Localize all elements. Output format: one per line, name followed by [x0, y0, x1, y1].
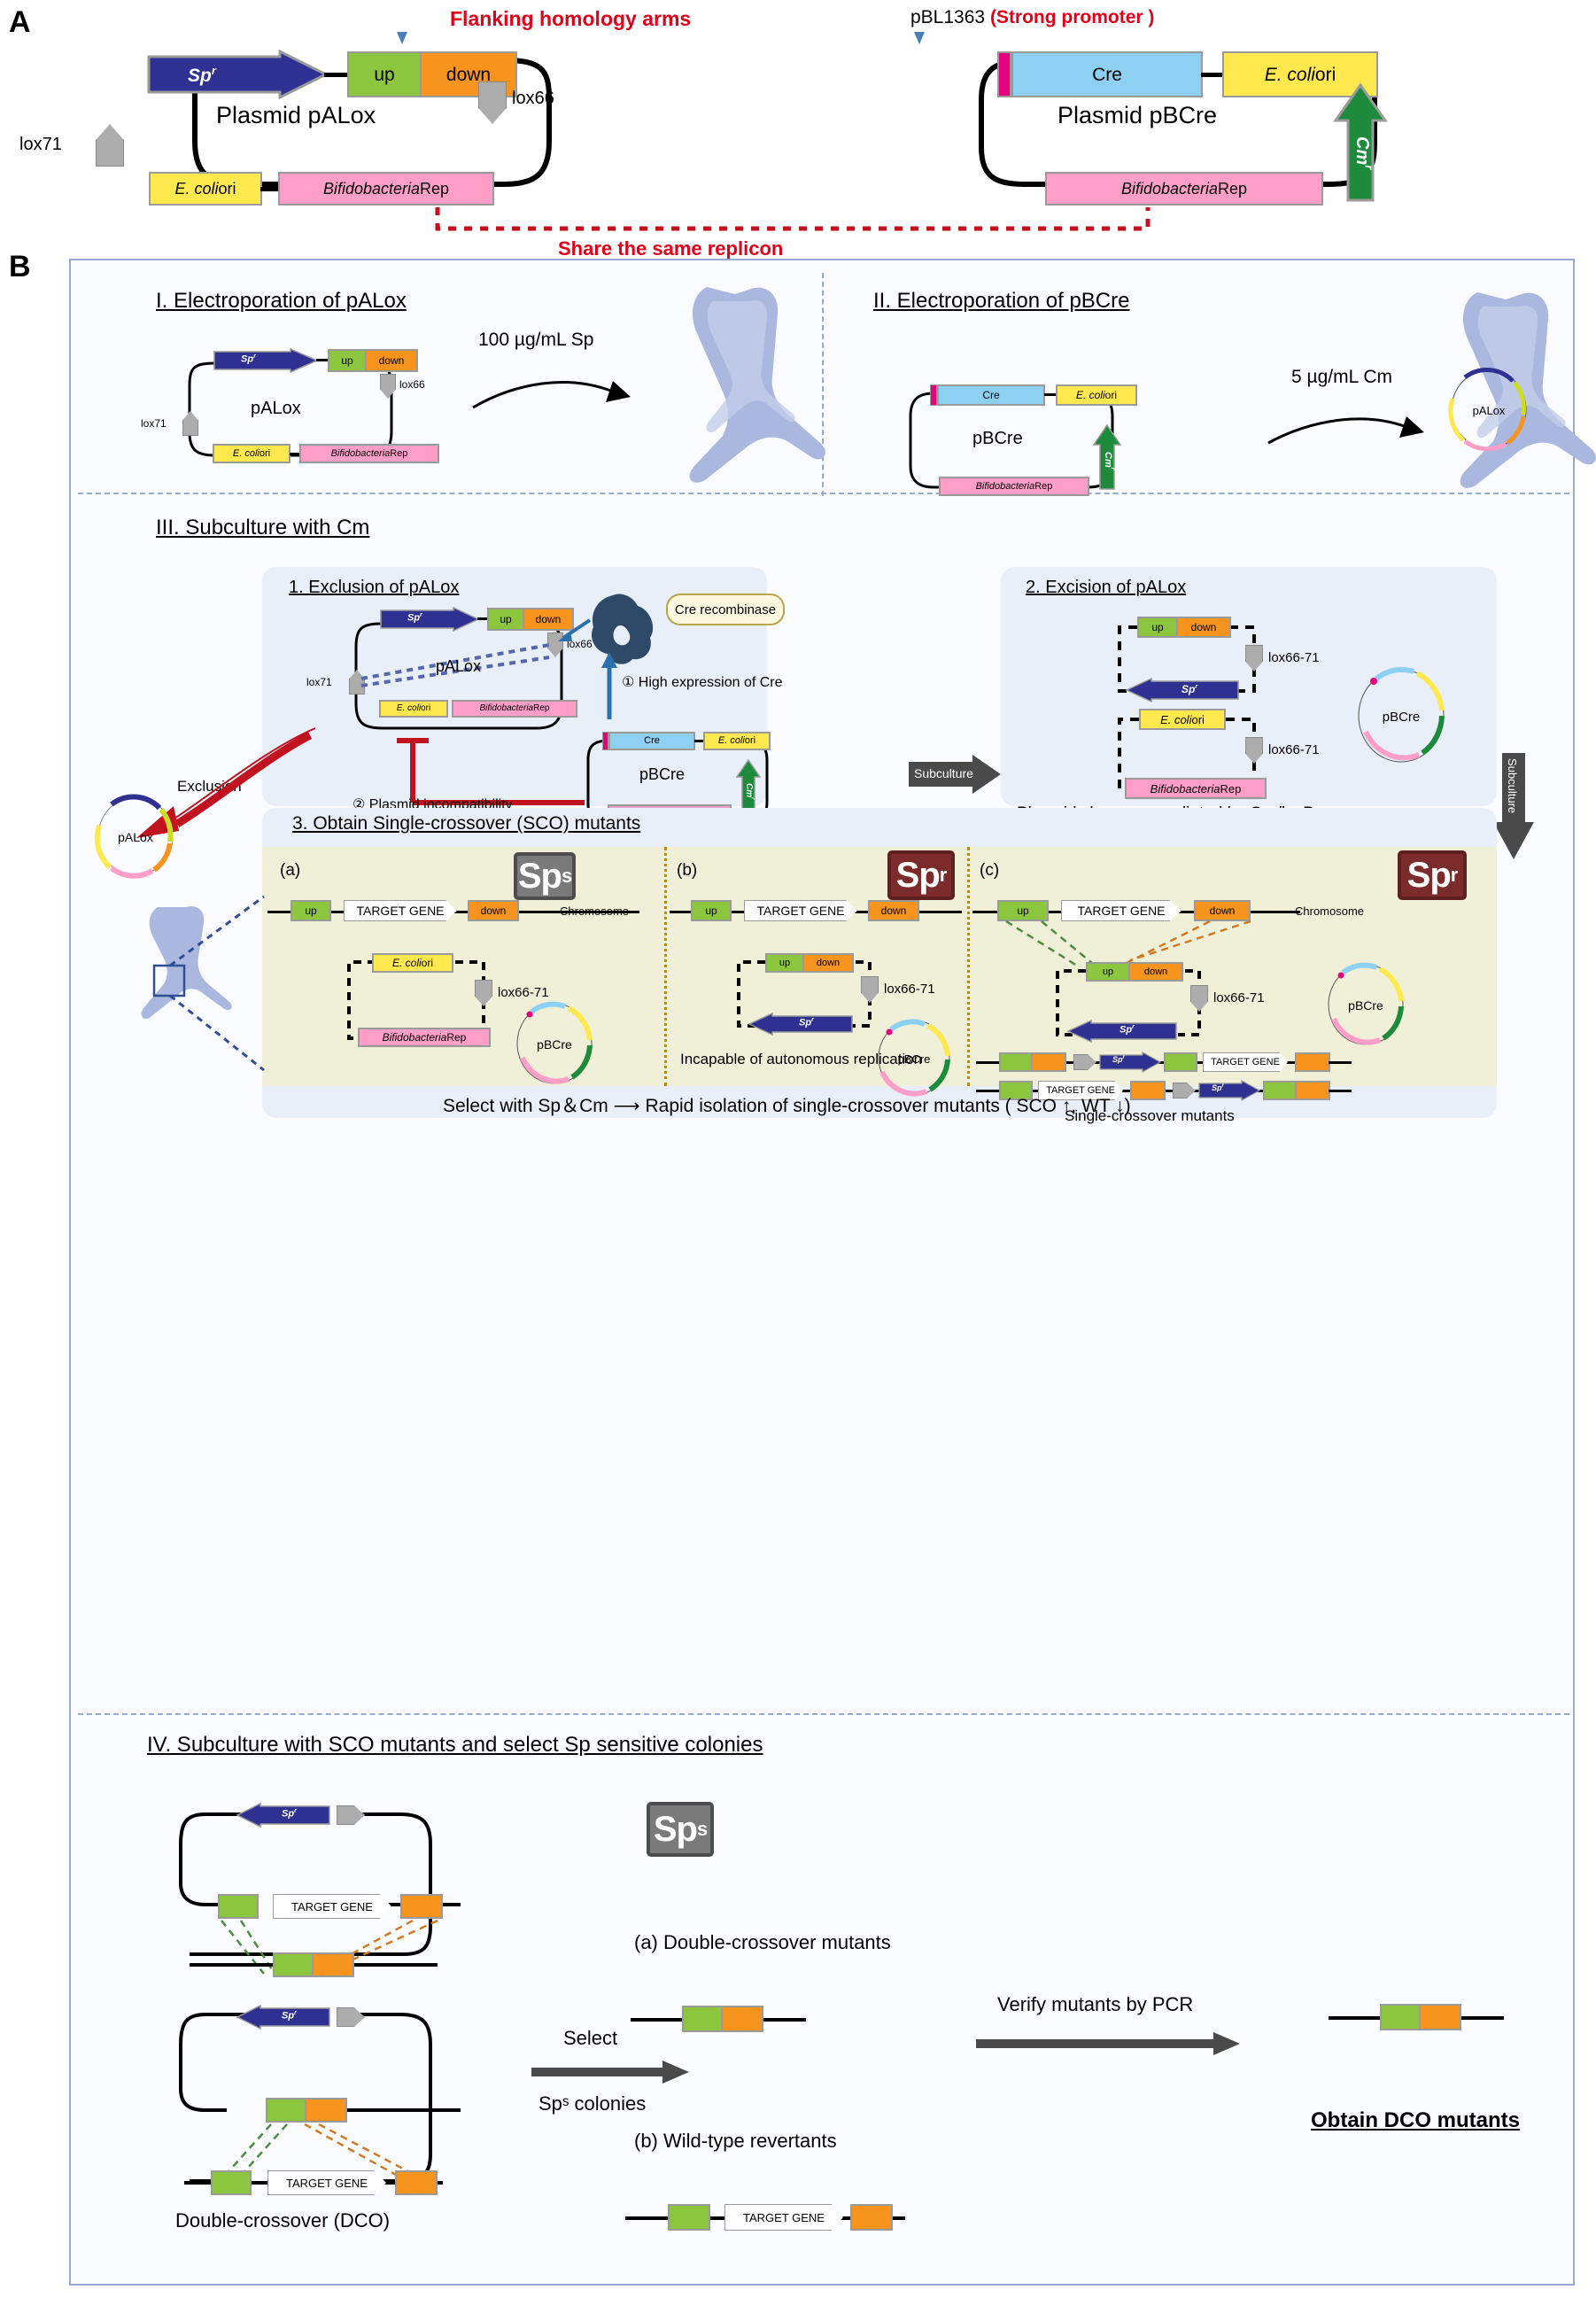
- sub1-cre-box: Cre: [608, 732, 695, 750]
- section-i-lox66-label: lox66: [399, 378, 425, 391]
- section-ii-rep-box: Bifidobacteria Rep: [939, 477, 1089, 496]
- section-iv-sco1-spr: Spr: [237, 1804, 329, 1827]
- pbcre-rep-rest: Rep: [1218, 181, 1247, 197]
- excluded-palox-plasmid: pALox: [87, 792, 184, 881]
- pbcre-rep-box: Bifidobacteria Rep: [1045, 172, 1323, 206]
- section-iv-result-b-target-gene: TARGET GENE: [724, 2204, 843, 2231]
- section-iv-badge-sps-sup: s: [697, 1818, 707, 1841]
- palox-lox66-label: lox66: [512, 89, 554, 109]
- sub3-c-lox6671-label: lox66-71: [1213, 990, 1265, 1005]
- section-iv-result-b-label: (b) Wild-type revertants: [634, 2130, 837, 2153]
- sub1-pbcre-ecoli-ori-rest: ori: [745, 736, 755, 746]
- section-iv-select-top-label: Select: [563, 2027, 617, 2050]
- sub1-rep-box: Bifidobacteria Rep: [452, 700, 577, 718]
- section-iv-result-b-up: [668, 2204, 710, 2231]
- sub1-cmr-gene: Cmr: [737, 760, 760, 815]
- pbcre-cmr-sup: r: [1363, 165, 1376, 169]
- panel-a-letter: A: [9, 5, 31, 40]
- sub3-c-pbcre-mini-plasmid: pBCre: [1318, 962, 1415, 1049]
- section-i-spr-gene: Spr: [214, 349, 317, 372]
- section-ii-connector-1: [1044, 393, 1057, 396]
- sub2-ecoli-ori-rest: ori: [1191, 714, 1204, 726]
- sub1-spr-gene: Spr: [381, 608, 478, 631]
- sub1-palox-name: pALox: [436, 657, 481, 676]
- pbcre-connector-1: [1201, 73, 1224, 77]
- sub3-a-rep-rest: Rep: [446, 1032, 466, 1043]
- sub3-footer: Select with Sp＆Cm ⟶ Rapid isolation of s…: [443, 1091, 1131, 1118]
- sub3-b-caption: Incapable of autonomous replication: [680, 1051, 922, 1068]
- pbcre-cmr-gene: Cmr: [1336, 85, 1385, 200]
- sub3-c-r2-down: [1130, 1081, 1166, 1100]
- sub3-c-r1-down: [1031, 1052, 1066, 1072]
- section-i-spr-sup: r: [253, 353, 256, 360]
- section-i-arrow-icon: [471, 365, 635, 418]
- sub3-c-r1-spr-label: Sp: [1112, 1055, 1123, 1064]
- sub3-badge-spr-b-sup: r: [940, 864, 947, 887]
- section-i-connector-1: [316, 359, 329, 361]
- pbcre-title: Plasmid pBCre: [1058, 102, 1217, 129]
- section-iv-sco2-spr-sup: r: [294, 2010, 297, 2016]
- sub3-c-r2-down2: [1295, 1081, 1330, 1100]
- section-i-rep-rest: Rep: [390, 449, 407, 459]
- section-iv-select-bottom-label: Spˢ colonies: [538, 2092, 646, 2115]
- section-ii-ecoli-ori-italic: E. coli: [1076, 390, 1105, 400]
- section-iv-dco-result-up: [1380, 2004, 1421, 2030]
- sub3-b-spr-sup: r: [811, 1017, 814, 1023]
- pbcre-ecoli-ori-rest: ori: [1315, 66, 1336, 84]
- section-ii-cell-plasmid-label: pALox: [1473, 404, 1506, 417]
- panel-b-container: I. Electroporation of pALox Spr up down …: [69, 259, 1575, 2286]
- sub1-spr-label: Sp: [407, 613, 420, 624]
- sub3-a-rep-italic: Bifidobacteria: [383, 1032, 447, 1043]
- section-ii-ecoli-ori-rest: ori: [1105, 390, 1117, 400]
- pbcre-cre-box: Cre: [1011, 51, 1203, 97]
- share-replicon-label: Share the same replicon: [558, 237, 783, 260]
- sub3-divider-bc: [967, 847, 970, 1086]
- section-i-antibiotic-label: 100 µg/mL Sp: [478, 330, 593, 351]
- section-i-rep-italic: Bifidobacteria: [331, 449, 391, 459]
- sub3-c-r2-up2: [1263, 1081, 1297, 1100]
- subpanel-1-title: 1. Exclusion of pALox: [289, 578, 459, 598]
- palox-connector-1: [324, 73, 347, 77]
- sub3-badge-sps: Sps: [514, 852, 576, 900]
- section-iv-title: IV. Subculture with SCO mutants and sele…: [147, 1733, 763, 1758]
- palox-connector-2: [260, 187, 280, 191]
- sub1-up-box: up: [487, 608, 524, 631]
- sub2-pbcre-label: pBCre: [1383, 710, 1421, 725]
- sub2-pbcre-mini-plasmid: pBCre: [1346, 664, 1461, 771]
- section-i-bacterium-icon: [638, 275, 815, 487]
- section-iv-dco-result-down: [1419, 2004, 1461, 2030]
- section-ii-rep-italic: Bifidobacteria: [976, 482, 1035, 492]
- section-ii-ecoli-ori-box: E. coli ori: [1056, 384, 1137, 406]
- sub3-a-ecoli-ori-box: E. coli ori: [372, 953, 453, 973]
- sub3-a-up-box: up: [291, 900, 331, 921]
- subculture-arrow-v-label: Subculture: [1506, 758, 1519, 813]
- section-ii-cmr-label: Cm: [1103, 452, 1113, 468]
- sub3-c-target-gene: TARGET GENE: [1061, 900, 1182, 921]
- sub2-rep-italic: Bifidobacteria: [1151, 783, 1220, 795]
- sub3-badge-spr-b-text: Sp: [896, 856, 940, 896]
- sub3-c-r2-spr-label: Sp: [1212, 1083, 1222, 1092]
- sub1-lox71-label: lox71: [306, 676, 332, 688]
- section-ii-cre-box: Cre: [937, 384, 1045, 406]
- sub3-a-ecoli-ori-italic: E. coli: [392, 958, 422, 968]
- section-iv-badge-sps-text: Sp: [654, 1810, 697, 1850]
- section-ii-palox-mini-plasmid: pALox: [1440, 365, 1538, 454]
- sub3-c-spr-label: Sp: [1120, 1025, 1132, 1036]
- section-iv-sco1-up2: [273, 1952, 314, 1977]
- section-iv-sco1-down2: [312, 1952, 354, 1977]
- section-ii-plasmid-name: pBCre: [972, 429, 1023, 449]
- palox-title: Plasmid pALox: [216, 102, 376, 129]
- sub3-badge-spr-b: Spr: [887, 850, 955, 900]
- section-i-title: I. Electroporation of pALox: [156, 289, 407, 314]
- sub2-down-box: down: [1176, 617, 1231, 638]
- palox-up-box: up: [347, 51, 422, 97]
- section-ii-rep-rest: Rep: [1034, 482, 1052, 492]
- section-i-plasmid-name: pALox: [251, 399, 301, 419]
- palox-spr-label: Sp: [188, 66, 212, 86]
- sub2-spr-sup: r: [1195, 684, 1197, 690]
- sub3-badge-spr-c: Spr: [1398, 850, 1467, 900]
- sub3-c-up-box-2: up: [1086, 962, 1130, 982]
- sub2-spr-gene: Spr: [1127, 679, 1238, 702]
- promoter-name: pBL1363: [910, 7, 985, 27]
- sub3-a-down-box: down: [468, 900, 519, 921]
- section-ii-promoter-marker: [930, 384, 937, 406]
- sub3-a-rep-box: Bifidobacteria Rep: [358, 1028, 491, 1047]
- section-i-down-box: down: [365, 349, 418, 372]
- sep-vertical-1: [822, 273, 824, 496]
- sub3-a-label: (a): [280, 861, 300, 881]
- palox-rep-box: Bifidobacteria Rep: [278, 172, 494, 206]
- section-iv-sco1-spr-sup: r: [294, 1808, 297, 1814]
- section-iv-sco1-down: [400, 1894, 443, 1919]
- sep-horizontal-1: [78, 493, 1569, 494]
- section-i-ecoli-ori-box: E. coli ori: [213, 444, 291, 463]
- sub3-c-spr-gene: Spr: [1068, 1021, 1176, 1042]
- sub3-c-r1-up2: [1164, 1052, 1197, 1072]
- sep-horizontal-2: [78, 1713, 1569, 1715]
- sub3-badge-spr-c-text: Sp: [1407, 856, 1451, 896]
- section-i-up-box: up: [328, 349, 367, 372]
- section-ii-cmr-sup: r: [1110, 468, 1116, 470]
- pbcre-cmr-label: Cm: [1352, 136, 1372, 165]
- sub1-rep-rest: Rep: [533, 704, 549, 713]
- sub3-badge-spr-c-sup: r: [1451, 864, 1458, 887]
- sub1-spr-sup: r: [420, 612, 422, 618]
- sub3-c-r2-spr-sup: r: [1222, 1083, 1224, 1089]
- palox-spr-sup: r: [212, 64, 216, 77]
- subculture-arrow-horizontal: Subculture: [909, 755, 1001, 794]
- sub1-cmr-label: Cm: [744, 783, 754, 797]
- pbcre-rep-italic: Bifidobacteria: [1121, 181, 1218, 197]
- section-iv-result-a-up: [682, 2006, 723, 2032]
- sub3-a-lox6671-label: lox66-71: [498, 985, 549, 1000]
- sub3-b-lox6671-label: lox66-71: [884, 982, 935, 997]
- section-iv-sco2-spr: Spr: [237, 2006, 329, 2029]
- sub3-c-r1-spr-sup: r: [1123, 1055, 1125, 1060]
- section-iv-sco2-down2: [395, 2170, 438, 2195]
- sub2-ecoli-ori-box: E. coli ori: [1139, 709, 1226, 730]
- sub1-pbcre-ecoli-ori-italic: E. coli: [718, 736, 745, 746]
- subculture-arrow-vertical: Subculture: [1493, 753, 1534, 859]
- sub3-divider-ab: [664, 847, 667, 1086]
- sub1-rep-italic: Bifidobacteria: [480, 704, 534, 713]
- sub1-pbcre-name: pBCre: [639, 765, 685, 784]
- section-i-spr-label: Sp: [241, 354, 253, 365]
- section-iv-verify-arrow-icon: [976, 2030, 1242, 2057]
- palox-spr-gene: Spr: [149, 51, 326, 97]
- section-iv-badge-sps: Sps: [647, 1802, 714, 1857]
- section-ii-cmr-gene: Cmr: [1094, 425, 1120, 489]
- sub3-a-chromosome-label: Chromosome: [560, 904, 629, 918]
- share-replicon-bracket: [434, 206, 1151, 237]
- sub3-magnified-bacterium-icon: [103, 896, 280, 1074]
- palox-ecoli-ori-rest: ori: [219, 181, 236, 197]
- sub3-c-r1-spr: Spr: [1100, 1052, 1160, 1072]
- sub3-c-down-box: down: [1194, 900, 1251, 921]
- section-iv-result-a-label: (a) Double-crossover mutants: [634, 1931, 891, 1954]
- section-iv-dco-caption: Double-crossover (DCO): [175, 2209, 390, 2232]
- sub2-spr-label: Sp: [1182, 683, 1195, 695]
- sub3-b-down-box-2: down: [802, 953, 854, 973]
- cre-recombinase-chip: Cre recombinase: [666, 594, 785, 625]
- cre-binding-arrow-icon: [556, 617, 593, 645]
- sub1-promoter-marker: [602, 732, 608, 750]
- section-iv-sco2-spr-label: Sp: [282, 2011, 294, 2022]
- sub3-c-pbcre-label: pBCre: [1348, 998, 1383, 1013]
- sub3-badge-sps-sup: s: [562, 865, 571, 888]
- subpanel-2-title: 2. Excision of pALox: [1026, 578, 1186, 598]
- sub1-ecoli-ori-box: E. coli ori: [379, 700, 448, 718]
- sub3-a-pbcre-mini-plasmid: pBCre: [507, 1001, 604, 1090]
- promoter-note: (Strong promoter ): [990, 7, 1154, 27]
- sub3-c-up-box: up: [997, 900, 1049, 921]
- excluded-palox-label: pALox: [118, 830, 153, 844]
- section-i-rep-box: Bifidobacteria Rep: [299, 444, 439, 463]
- section-i-ecoli-ori-rest: ori: [260, 449, 270, 459]
- section-iv-result-a-down: [721, 2006, 763, 2032]
- sub1-ecoli-ori-rest: ori: [421, 704, 430, 713]
- sub3-c-down-box-2: down: [1128, 962, 1183, 982]
- section-iv-select-bottom-text: Spˢ colonies: [538, 2092, 646, 2115]
- section-iv-sco1-spr-label: Sp: [282, 1809, 294, 1820]
- sub3-c-result-line-1b: [1329, 1061, 1352, 1064]
- sub2-lox6671-label-a: lox66-71: [1268, 650, 1320, 665]
- palox-rep-italic: Bifidobacteria: [323, 181, 420, 197]
- sub3-a-pbcre-label: pBCre: [537, 1037, 572, 1052]
- sub3-b-spr-gene: Spr: [749, 1013, 852, 1035]
- palox-ecoli-ori-box: E. coli ori: [149, 172, 262, 206]
- section-iv-sco2-up2: [211, 2170, 252, 2195]
- sub3-c-r1-up: [999, 1052, 1033, 1072]
- sub1-pbcre-ecoli-ori-box: E. coli ori: [703, 732, 771, 750]
- panel-b-letter: B: [9, 250, 31, 284]
- section-iv-sco1-up: [218, 1894, 259, 1919]
- promoter-label-group: pBL1363 (Strong promoter ): [910, 7, 1154, 28]
- cre-protein-icon: [586, 592, 657, 670]
- flanking-homology-arms-label: Flanking homology arms: [450, 7, 691, 31]
- section-iv-sco2-target-gene: TARGET GENE: [267, 2170, 386, 2195]
- palox-lox71-label: lox71: [19, 135, 62, 155]
- section-i-ecoli-ori-italic: E. coli: [233, 449, 260, 459]
- palox-ecoli-ori-italic: E. coli: [174, 181, 218, 197]
- pbcre-promoter-marker: [997, 51, 1011, 97]
- sub3-b-label: (b): [677, 861, 697, 881]
- sub3-c-chromosome-label: Chromosome: [1295, 904, 1364, 918]
- sub3-b-down-box: down: [868, 900, 919, 921]
- palox-rep-rest: Rep: [420, 181, 449, 197]
- sub3-c-r1-down2: [1295, 1052, 1330, 1072]
- high-expression-arrow-icon: [600, 650, 618, 721]
- subculture-arrow-h-label: Subculture: [914, 766, 973, 780]
- sub3-b-target-gene: TARGET GENE: [744, 900, 857, 921]
- sub2-rep-box: Bifidobacteria Rep: [1125, 778, 1267, 799]
- section-iv-result-b-down: [850, 2204, 893, 2231]
- subpanel-3-title: 3. Obtain Single-crossover (SCO) mutants: [292, 813, 640, 834]
- sub2-ecoli-ori-italic: E. coli: [1160, 714, 1191, 726]
- section-iv-sco2-up: [266, 2098, 306, 2123]
- sub3-c-r1-target-gene: TARGET GENE: [1203, 1052, 1288, 1072]
- section-iv-verify-label: Verify mutants by PCR: [997, 1993, 1193, 2016]
- section-ii-antibiotic-label: 5 µg/mL Cm: [1291, 367, 1392, 388]
- section-iv-obtain-dco-label: Obtain DCO mutants: [1311, 2108, 1520, 2133]
- sub1-ecoli-ori-italic: E. coli: [397, 704, 421, 713]
- sub3-c-r2-spr: Spr: [1199, 1081, 1259, 1100]
- section-ii-title: II. Electroporation of pBCre: [873, 289, 1129, 314]
- section-iv-sco1-target-gene: TARGET GENE: [273, 1894, 391, 1919]
- sub3-a-ecoli-ori-rest: ori: [422, 958, 433, 968]
- sub3-c-result-line-2b: [1329, 1090, 1352, 1092]
- section-i-lox71-label: lox71: [141, 417, 167, 430]
- section-iv-select-arrow-icon: [531, 2059, 691, 2085]
- sub3-badge-sps-text: Sp: [518, 857, 562, 896]
- pbcre-ecoli-ori-italic: E. coli: [1265, 66, 1315, 84]
- high-expression-label: ① High expression of Cre: [622, 673, 783, 691]
- sub1-cmr-sup: r: [749, 797, 755, 799]
- sub3-a-target-gene: TARGET GENE: [344, 900, 457, 921]
- sub2-rep-rest: Rep: [1220, 783, 1241, 795]
- sub2-up-box: up: [1137, 617, 1178, 638]
- sub3-c-label: (c): [980, 861, 999, 881]
- section-iii-title: III. Subculture with Cm: [156, 516, 369, 540]
- sub3-b-spr-label: Sp: [799, 1018, 811, 1028]
- section-iv-sco2-down: [305, 2098, 347, 2123]
- sub2-lox6671-label-b: lox66-71: [1268, 742, 1320, 757]
- sub3-c-spr-sup: r: [1132, 1024, 1135, 1030]
- sub3-b-up-box-2: up: [765, 953, 804, 973]
- sub3-b-up-box: up: [691, 900, 732, 921]
